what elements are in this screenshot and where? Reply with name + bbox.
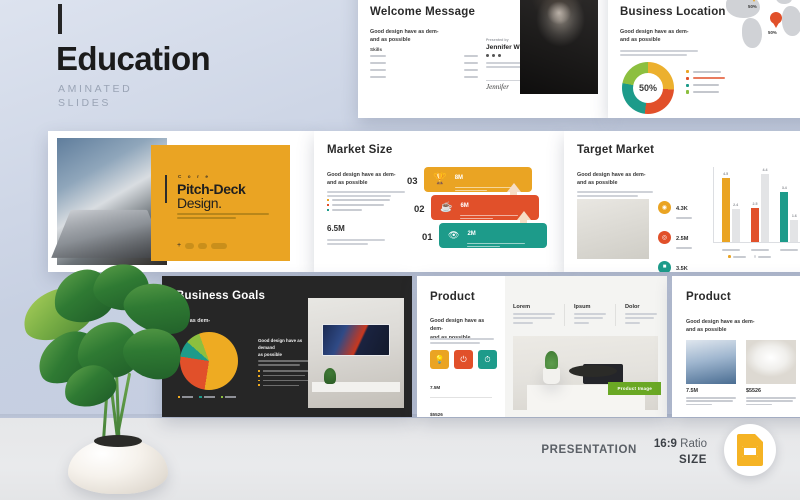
bullet-dot <box>258 384 260 386</box>
product-columns: Lorem Ipsum Dolor <box>513 304 657 326</box>
skill-value <box>464 69 478 71</box>
slide-pitch-deck[interactable]: C o r e Pitch-Deck Design. + <box>48 131 314 272</box>
legend-swatch <box>686 70 689 73</box>
monitor-desk-photo <box>308 298 404 408</box>
legend-label <box>733 256 746 258</box>
legend-item <box>686 84 734 87</box>
market-highlight-value: 6.5M <box>327 224 345 233</box>
globe-icon: ◉ <box>658 201 671 214</box>
map-pin[interactable] <box>748 0 760 2</box>
product-column: Lorem <box>513 304 555 326</box>
target-icon: ◎ <box>658 231 671 244</box>
product-stat-list: 7.5M $5526 3.6K <box>430 376 492 417</box>
slide-welcome-skills-label: Skills <box>370 47 382 52</box>
pitch-accent-bar <box>165 175 167 203</box>
legend-label <box>693 71 721 73</box>
bullet-label <box>332 209 362 211</box>
chart-group: 2.5 4.4 <box>751 174 769 242</box>
coffee-cup-icon: ☕ <box>440 203 452 213</box>
ratio-word: Ratio <box>680 438 707 450</box>
skill-value <box>464 62 478 64</box>
title-tick-mark <box>58 4 62 34</box>
ribbon-number: 03 <box>407 176 418 187</box>
goals-bullets <box>258 370 314 386</box>
eye-icon: 👁 <box>448 231 459 240</box>
slide-market-lead: Good design have as dem- and as possible <box>327 171 407 188</box>
stat-row: ◎ 2.5M <box>658 227 692 249</box>
size-label: SIZE <box>654 453 707 467</box>
clock-icon[interactable]: ⏱ <box>478 350 497 369</box>
arrow-up-icon <box>517 211 531 220</box>
ratio-block: 16:9 Ratio SIZE <box>654 433 707 467</box>
chart-x-tick-labels <box>716 249 800 251</box>
bullet-dot <box>258 375 260 377</box>
skill-bar-row <box>370 69 478 72</box>
bullet-item <box>258 370 314 372</box>
column-heading: Lorem <box>513 304 555 310</box>
desk-photo <box>577 199 649 259</box>
skill-track <box>386 55 458 58</box>
plant-leaves <box>545 351 558 369</box>
column-heading: Dolor <box>625 304 657 310</box>
slide-market-size[interactable]: Market Size Good design have as dem- and… <box>314 131 564 272</box>
ribbon-value: 6M <box>460 203 468 209</box>
slide-market-title: Market Size <box>327 144 392 156</box>
bulb-icon[interactable]: 💡 <box>430 350 449 369</box>
instagram-icon[interactable] <box>498 54 501 57</box>
slide-target-market[interactable]: Target Market Good design have as dem- a… <box>564 131 800 272</box>
bullet-dot <box>258 380 260 382</box>
slide-product2-title: Product <box>686 291 731 303</box>
bullet-label <box>263 385 299 387</box>
brand-block: Education AMINATED SLIDES <box>56 4 210 110</box>
pitch-paragraph <box>177 213 269 221</box>
skill-label <box>370 62 386 64</box>
legend-swatch <box>686 90 689 93</box>
skill-track <box>386 76 458 79</box>
chart-bar-series1: 3.4 <box>780 192 788 242</box>
stat-caption <box>676 217 692 219</box>
plant-pot <box>543 368 560 384</box>
white-round-pot <box>68 438 168 494</box>
map-pin-tail <box>750 0 758 2</box>
slide-location-lead: Good design have as dem- and as possible <box>620 28 702 45</box>
slide-target-title: Target Market <box>577 144 654 156</box>
footer-pill[interactable] <box>185 243 194 249</box>
desk-plant <box>324 368 336 384</box>
bullet-dot <box>327 204 329 206</box>
product-card[interactable]: $5526 <box>746 340 796 407</box>
skill-value <box>464 55 478 57</box>
donut-chart: 50% <box>622 62 674 114</box>
stat-value: 3.5K <box>676 266 688 272</box>
slide-product1-paragraph <box>430 338 494 347</box>
ribbon-value: 2M <box>467 231 475 237</box>
chart-bars: 4.5 2.4 2.5 4.4 3.4 1.6 <box>716 166 800 242</box>
product-icon-row[interactable]: 💡 ⏻ ⏱ <box>430 350 497 369</box>
bullet-dot <box>258 370 260 372</box>
ribbon-number: 01 <box>422 232 433 243</box>
legend-swatch <box>728 255 731 258</box>
bullet-dot <box>327 209 329 211</box>
bullet-label <box>332 204 384 206</box>
skill-label <box>370 69 386 71</box>
map-pin[interactable] <box>770 12 782 28</box>
footer-pill[interactable] <box>198 243 207 249</box>
legend-label <box>758 256 771 258</box>
ratio-line: 16:9 Ratio <box>654 438 707 450</box>
legend-swatch <box>686 77 689 80</box>
ribbon-caption <box>455 187 513 192</box>
ribbon-caption <box>460 215 518 220</box>
portrait-photo <box>520 0 598 94</box>
monitor-screen <box>322 324 390 356</box>
product-card-value: 7.5M <box>686 388 736 394</box>
brand-subtitle: AMINATED SLIDES <box>58 82 210 110</box>
slide-product2-lead: Good design have as dem- and as possible <box>686 318 764 335</box>
stat-caption <box>676 247 692 249</box>
slide-product-two[interactable]: Product Good design have as dem- and as … <box>672 276 800 417</box>
monstera-plant <box>20 262 210 500</box>
bullet-item <box>258 384 314 386</box>
skill-track <box>386 62 458 65</box>
product-column: Dolor <box>615 304 657 326</box>
market-bullets <box>327 199 397 211</box>
slide-goals-body-lead: Good design have as demand as possible <box>258 338 314 358</box>
slide-location-paragraph <box>620 50 698 59</box>
legend-item <box>754 255 772 258</box>
slide-welcome-message[interactable]: Welcome Message Good design have as dem-… <box>358 0 608 118</box>
product-image-badge[interactable]: Product Image <box>608 382 661 395</box>
ribbon-value: 8M <box>455 175 463 181</box>
skill-track <box>386 69 458 72</box>
ratio-value: 16:9 <box>654 438 677 450</box>
chart-group: 3.4 1.6 <box>780 192 798 242</box>
stat-value: 2.5M <box>676 236 688 242</box>
bullet-item <box>327 199 397 201</box>
stat-row: ■ 3.5K <box>658 257 692 272</box>
chart-bar-series2: 4.4 <box>761 174 769 242</box>
column-heading: Ipsum <box>574 304 606 310</box>
skill-bar-row <box>370 76 478 79</box>
bullet-item <box>327 204 397 206</box>
x-tick <box>780 249 798 251</box>
pitch-eyebrow: C o r e <box>178 174 211 179</box>
slide-welcome-title: Welcome Message <box>370 6 475 18</box>
column-text <box>625 313 657 324</box>
trophy-icon: 🏆 <box>433 174 447 185</box>
bullet-label <box>263 375 305 377</box>
slide-target-lead: Good design have as dem- and as possible <box>577 171 657 188</box>
slide-product-one[interactable]: Product Good design have as dem- and as … <box>417 276 667 417</box>
bullet-label <box>263 370 311 372</box>
donut-value: 50% <box>622 62 674 114</box>
plus-icon[interactable]: + <box>177 242 181 249</box>
column-text <box>574 313 606 324</box>
footer-pill[interactable] <box>211 243 227 249</box>
skill-value <box>464 76 478 78</box>
chart-group: 4.5 2.4 <box>722 178 740 242</box>
google-slides-badge[interactable] <box>724 424 776 476</box>
arrow-up-icon <box>507 183 521 192</box>
bullet-item <box>258 380 314 382</box>
pitch-card: C o r e Pitch-Deck Design. + <box>151 145 290 261</box>
bullet-item <box>327 209 397 211</box>
product-left-panel: Product Good design have as dem- and as … <box>417 276 505 417</box>
legend-item <box>728 255 746 258</box>
presentation-label: PRESENTATION <box>541 444 637 456</box>
legend-swatch <box>221 396 223 398</box>
product-stat-value: 7.5M <box>430 385 440 390</box>
ribbon-number: 02 <box>414 204 425 215</box>
product-stat-item: $5526 <box>430 403 492 417</box>
blue-pyramid-photo <box>686 340 736 384</box>
skill-label <box>370 76 386 78</box>
bullet-item <box>258 375 314 377</box>
pitch-footer[interactable]: + <box>177 242 227 249</box>
x-tick <box>722 249 740 251</box>
pitch-title-line2: Design. <box>177 195 222 211</box>
legend-item <box>221 396 236 398</box>
slide-location-title: Business Location <box>620 6 726 18</box>
welcome-skill-bars <box>370 55 478 83</box>
map-pin-tail <box>772 21 780 28</box>
chart-y-axis <box>713 167 714 243</box>
bullet-dot <box>327 199 329 201</box>
brand-subtitle-line1: AMINATED <box>58 82 210 96</box>
donut-legend <box>686 70 734 97</box>
product-stat-item: 7.5M <box>430 376 492 398</box>
skill-bar-row <box>370 62 478 65</box>
x-tick <box>751 249 769 251</box>
column-text <box>513 313 555 324</box>
map-pin-value: 50% <box>768 30 777 35</box>
chart-icon: ■ <box>658 261 671 272</box>
skill-bar-row <box>370 55 478 58</box>
google-slides-icon <box>737 434 763 466</box>
facebook-icon[interactable] <box>486 54 489 57</box>
chart-bar-series2: 2.4 <box>732 209 740 242</box>
bullet-label <box>263 380 309 382</box>
product-card[interactable]: 7.5M <box>686 340 736 407</box>
target-stats: ◉ 4.3K ◎ 2.5M ■ 3.5K <box>658 197 692 272</box>
target-bar-chart: 4.5 2.4 2.5 4.4 3.4 1.6 <box>702 159 800 255</box>
brand-subtitle-line2: SLIDES <box>58 96 210 110</box>
slide-welcome-lead: Good design have as dem- and as possible <box>370 28 450 45</box>
white-chair-photo <box>746 340 796 384</box>
product-card-text <box>686 397 736 405</box>
bullet-label <box>332 199 390 201</box>
legend-label <box>225 396 236 398</box>
chart-legend <box>728 255 771 258</box>
slide-business-location[interactable]: Business Location Good design have as de… <box>608 0 800 118</box>
market-highlight-caption <box>327 239 385 248</box>
product-card-text <box>746 397 796 405</box>
chart-bar-series1: 4.5 <box>722 178 730 242</box>
chart-bar-series1: 2.5 <box>751 208 759 242</box>
skill-label <box>370 55 386 57</box>
ribbon-caption <box>467 243 525 248</box>
twitter-icon[interactable] <box>492 54 495 57</box>
plug-icon[interactable]: ⏻ <box>454 350 473 369</box>
ribbon-01[interactable]: 👁 2M <box>439 223 547 248</box>
product-column: Ipsum <box>564 304 606 326</box>
product-card-value: $5526 <box>746 388 796 394</box>
signature-rule <box>486 80 520 81</box>
legend-swatch <box>686 84 689 87</box>
donut-ring: 50% <box>622 62 674 114</box>
slide-product1-title: Product <box>430 291 475 303</box>
chart-bar-series2: 1.6 <box>790 220 798 242</box>
speaker-shelf-photo <box>513 336 658 410</box>
legend-label <box>693 84 719 86</box>
legend-label <box>693 77 725 79</box>
product-stat-value: $5526 <box>430 412 443 417</box>
legend-item <box>686 70 734 73</box>
page-title: Education <box>56 42 210 75</box>
legend-label <box>693 91 719 93</box>
stat-row: ◉ 4.3K <box>658 197 692 219</box>
legend-item <box>686 90 734 93</box>
world-map: 50% 50% 50% <box>724 0 800 54</box>
legend-swatch <box>754 255 757 258</box>
slide-goals-paragraph <box>258 360 312 369</box>
product2-cards: 7.5M $5526 3.6K <box>686 340 800 407</box>
map-pin-value: 50% <box>748 4 757 9</box>
legend-item <box>686 77 734 80</box>
stat-value: 4.3K <box>676 206 688 212</box>
footer-bar: PRESENTATION 16:9 Ratio SIZE <box>541 424 776 476</box>
